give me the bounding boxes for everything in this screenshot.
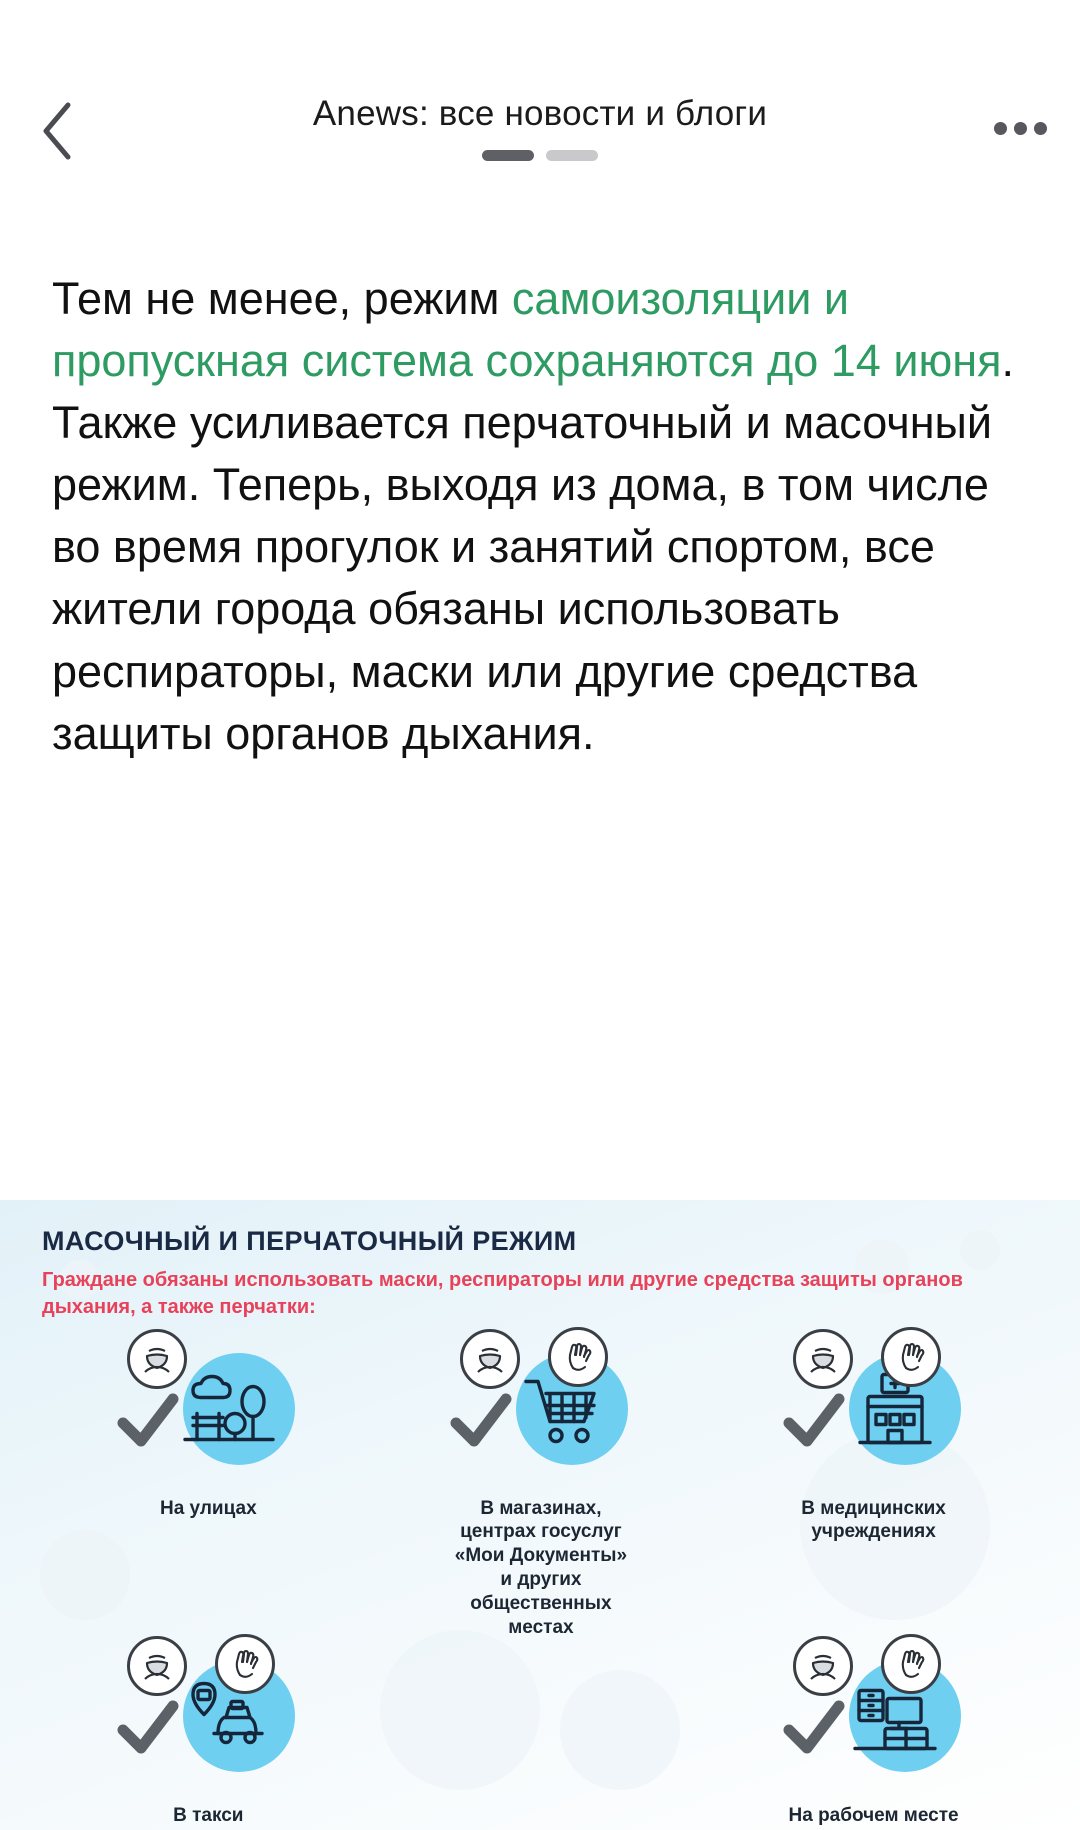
gloves-icon [881, 1327, 941, 1387]
mask-face-icon [460, 1329, 520, 1389]
caption-text: В магазинах, центрах госуслуг «Мои Докум… [455, 1498, 627, 1639]
checkmark-icon [783, 1393, 845, 1451]
caption-text: На улицах [160, 1498, 257, 1519]
paragraph-tail: . Также усиливается перчаточный и масочн… [52, 335, 1014, 759]
mask-face-icon [127, 1636, 187, 1696]
more-horizontal-icon [994, 122, 1047, 135]
infographic-caption: В такси и общественном транспорте [130, 1780, 287, 1830]
infographic-title: МАСОЧНЫЙ И ПЕРЧАТОЧНЫЙ РЕЖИМ [42, 1226, 1040, 1257]
mask-face-icon [793, 1329, 853, 1389]
checkmark-icon [783, 1700, 845, 1758]
infographic-caption: В магазинах, центрах госуслуг «Мои Докум… [455, 1473, 627, 1641]
infographic-item: В такси и общественном транспорте [42, 1646, 375, 1830]
page-indicator-dot-2[interactable] [546, 150, 598, 161]
page-indicator [0, 150, 1080, 161]
mask-face-icon [793, 1636, 853, 1696]
more-options-button[interactable] [988, 104, 1052, 152]
page-indicator-dot-1[interactable] [482, 150, 534, 161]
infographic-caption: На рабочем месте (кроме работы в обособл… [789, 1780, 959, 1830]
infographic-item: На рабочем месте (кроме работы в обособл… [707, 1646, 1040, 1830]
app-header: Anews: все новости и блоги [0, 0, 1080, 230]
infographic-caption: На улицах [160, 1473, 257, 1521]
infographic-item: На улицах [42, 1339, 375, 1521]
page-title: Anews: все новости и блоги [130, 94, 950, 134]
article-paragraph: Тем не менее, режим самоизоляции и пропу… [52, 268, 1028, 765]
caption-text: В такси и общественном транспорте [130, 1805, 287, 1830]
mask-face-icon [127, 1329, 187, 1389]
caption-text: На рабочем месте [789, 1805, 959, 1826]
paragraph-lead: Тем не менее, режим [52, 273, 512, 324]
infographic-subtitle: Граждане обязаны использовать маски, рес… [42, 1267, 1040, 1321]
infographic-item: В магазинах, центрах госуслуг «Мои Докум… [375, 1339, 708, 1641]
infographic-items-grid: На улицах [42, 1339, 1040, 1830]
gloves-icon [881, 1634, 941, 1694]
caption-text: В медицинских учреждениях [801, 1498, 946, 1543]
infographic-image: МАСОЧНЫЙ И ПЕРЧАТОЧНЫЙ РЕЖИМ Граждане об… [0, 1200, 1080, 1830]
checkmark-icon [117, 1700, 179, 1758]
infographic-caption: В медицинских учреждениях [801, 1473, 946, 1545]
gloves-icon [548, 1327, 608, 1387]
park-bench-tree-icon [181, 1368, 277, 1453]
infographic-item: В медицинских учреждениях [707, 1339, 1040, 1545]
checkmark-icon [117, 1393, 179, 1451]
checkmark-icon [450, 1393, 512, 1451]
article-body: Тем не менее, режим самоизоляции и пропу… [0, 230, 1080, 765]
